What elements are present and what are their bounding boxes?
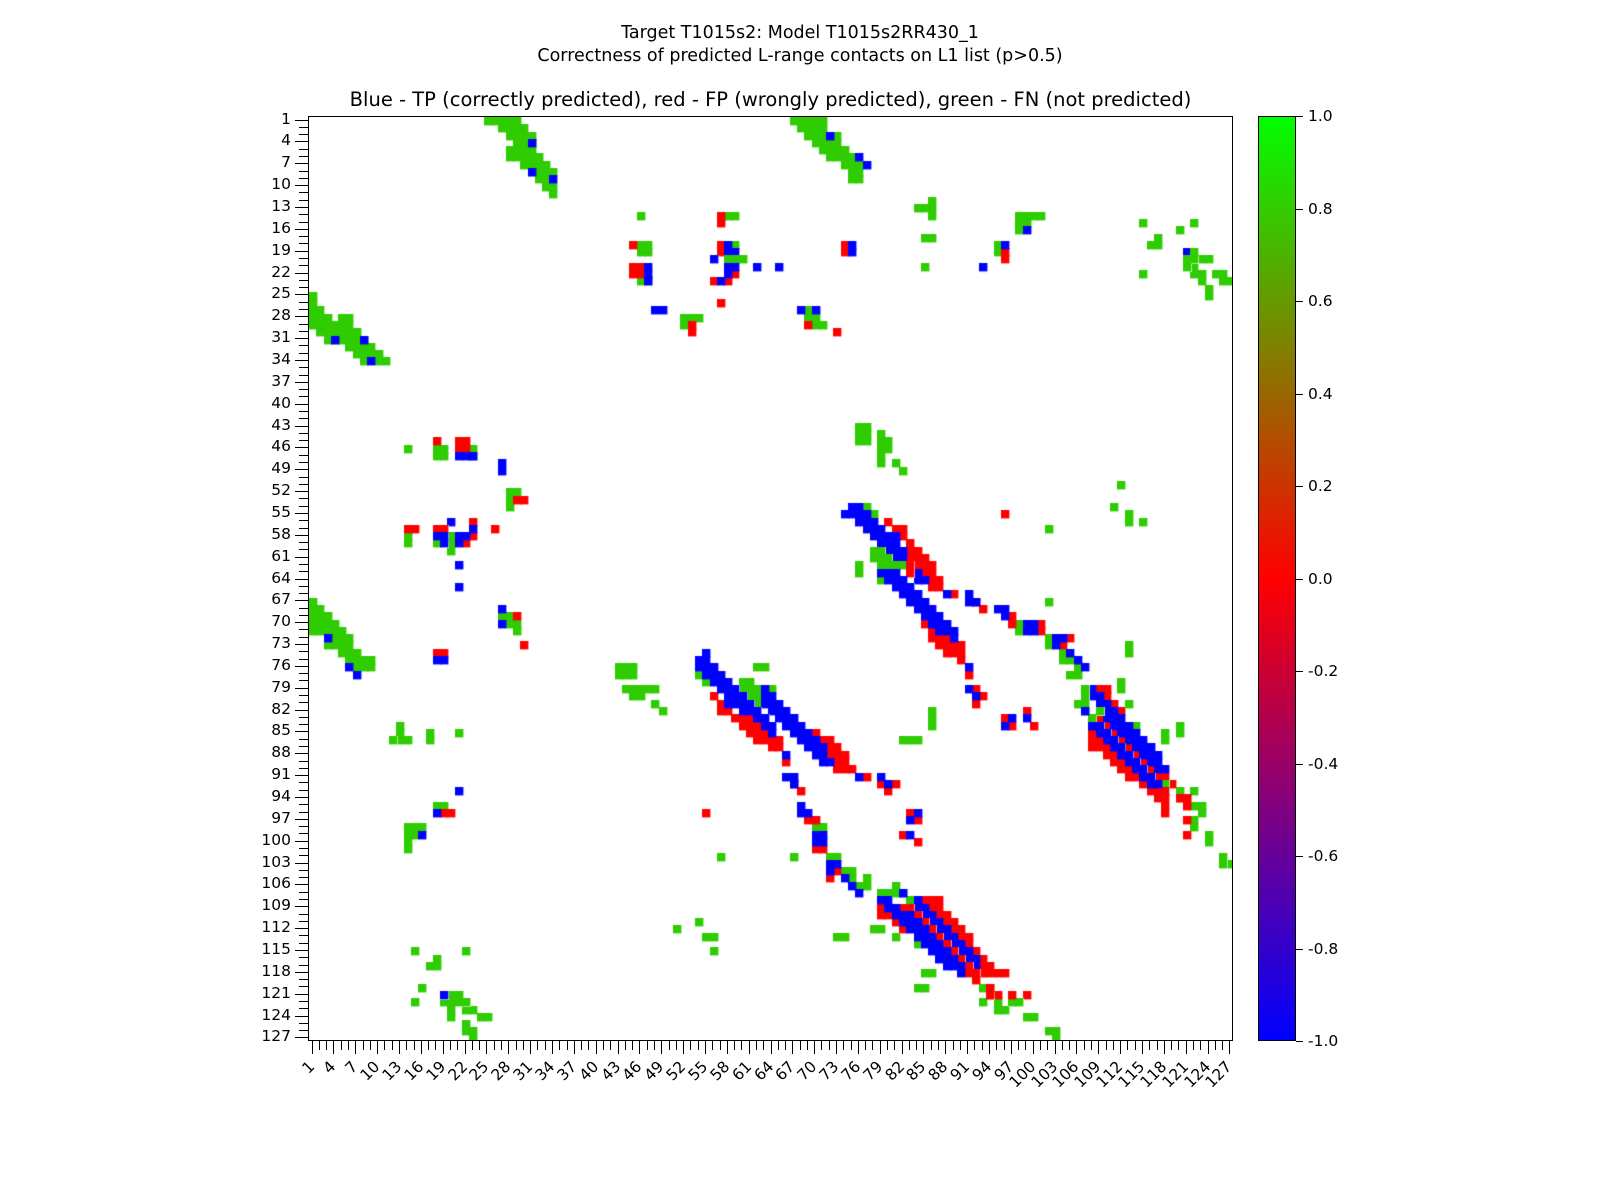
x-tick-minor xyxy=(1135,1041,1136,1050)
colorbar-tick xyxy=(1296,1041,1303,1042)
y-tick-minor xyxy=(299,761,308,762)
y-tick-minor xyxy=(299,506,308,507)
colorbar-tick xyxy=(1296,671,1303,672)
y-tick-minor xyxy=(299,790,308,791)
colorbar-tick xyxy=(1296,301,1303,302)
x-tick-major xyxy=(858,1041,859,1054)
colorbar-tick xyxy=(1296,764,1303,765)
x-tick-major xyxy=(399,1041,400,1054)
x-tick-minor xyxy=(348,1041,349,1050)
colorbar-tick-label: 0.2 xyxy=(1308,477,1333,495)
x-tick-major xyxy=(596,1041,597,1054)
x-tick-minor xyxy=(450,1041,451,1050)
x-tick-minor xyxy=(647,1041,648,1050)
colorbar-tick xyxy=(1296,949,1303,950)
y-tick-minor xyxy=(299,921,308,922)
y-tick-minor xyxy=(299,702,308,703)
y-tick-minor xyxy=(299,943,308,944)
x-tick-minor xyxy=(1178,1041,1179,1050)
y-tick-major xyxy=(295,469,308,470)
x-tick-major xyxy=(639,1041,640,1054)
x-tick-minor xyxy=(1091,1041,1092,1050)
colorbar-tick-label: 0.6 xyxy=(1308,292,1333,310)
y-tick-label: 28 xyxy=(271,306,291,324)
x-tick-minor xyxy=(916,1041,917,1050)
x-tick-minor xyxy=(756,1041,757,1050)
y-tick-major xyxy=(295,426,308,427)
y-tick-minor xyxy=(299,214,308,215)
y-tick-minor xyxy=(299,134,308,135)
y-tick-minor xyxy=(299,287,308,288)
x-tick-minor xyxy=(843,1041,844,1050)
y-tick-label: 34 xyxy=(271,350,291,368)
y-tick-label: 64 xyxy=(271,569,291,587)
y-tick-major xyxy=(295,120,308,121)
y-tick-minor xyxy=(299,586,308,587)
y-tick-label: 115 xyxy=(261,940,291,958)
y-tick-major xyxy=(295,884,308,885)
x-tick-minor xyxy=(974,1041,975,1050)
x-tick-minor xyxy=(865,1041,866,1050)
y-tick-minor xyxy=(299,265,308,266)
x-tick-minor xyxy=(537,1041,538,1050)
y-tick-minor xyxy=(299,396,308,397)
x-tick-minor xyxy=(632,1041,633,1050)
x-tick-major xyxy=(792,1041,793,1054)
y-tick-minor xyxy=(299,309,308,310)
y-tick-major xyxy=(295,841,308,842)
x-tick-major xyxy=(923,1041,924,1054)
x-tick-minor xyxy=(1062,1041,1063,1050)
x-tick-minor xyxy=(1047,1041,1048,1050)
y-tick-label: 10 xyxy=(271,175,291,193)
y-tick-minor xyxy=(299,593,308,594)
x-tick-minor xyxy=(785,1041,786,1050)
colorbar-gradient-upper xyxy=(1259,117,1295,579)
y-tick-minor xyxy=(299,455,308,456)
y-tick-minor xyxy=(299,637,308,638)
y-tick-minor xyxy=(299,877,308,878)
y-tick-major xyxy=(295,906,308,907)
y-tick-minor xyxy=(299,236,308,237)
x-tick-minor xyxy=(931,1041,932,1050)
x-tick-minor xyxy=(654,1041,655,1050)
colorbar-tick-label: -0.8 xyxy=(1308,940,1338,958)
x-tick-major xyxy=(1033,1041,1034,1054)
x-tick-minor xyxy=(698,1041,699,1050)
y-tick-minor xyxy=(299,782,308,783)
y-tick-label: 109 xyxy=(261,896,291,914)
x-tick-minor xyxy=(887,1041,888,1050)
y-tick-minor xyxy=(299,258,308,259)
y-tick-label: 46 xyxy=(271,437,291,455)
x-tick-minor xyxy=(1018,1041,1019,1050)
y-tick-minor xyxy=(299,498,308,499)
y-tick-major xyxy=(295,207,308,208)
y-tick-minor xyxy=(299,171,308,172)
y-tick-major xyxy=(295,731,308,732)
colorbar-tick xyxy=(1296,394,1303,395)
y-tick-label: 121 xyxy=(261,984,291,1002)
y-tick-minor xyxy=(299,659,308,660)
y-tick-label: 88 xyxy=(271,743,291,761)
x-tick-major xyxy=(377,1041,378,1054)
y-tick-minor xyxy=(299,375,308,376)
y-tick-minor xyxy=(299,484,308,485)
y-tick-major xyxy=(295,447,308,448)
y-tick-minor xyxy=(299,302,308,303)
x-tick-minor xyxy=(1113,1041,1114,1050)
x-tick-major xyxy=(443,1041,444,1054)
y-tick-minor xyxy=(299,768,308,769)
y-tick-label: 79 xyxy=(271,678,291,696)
y-tick-label: 73 xyxy=(271,634,291,652)
x-tick-major xyxy=(1142,1041,1143,1054)
colorbar-tick xyxy=(1296,579,1303,580)
y-tick-minor xyxy=(299,156,308,157)
y-tick-minor xyxy=(299,717,308,718)
y-tick-major xyxy=(295,294,308,295)
x-tick-minor xyxy=(1149,1041,1150,1050)
x-tick-major xyxy=(1164,1041,1165,1054)
y-tick-label: 61 xyxy=(271,547,291,565)
y-tick-label: 1 xyxy=(281,110,291,128)
x-tick-minor xyxy=(909,1041,910,1050)
y-tick-minor xyxy=(299,222,308,223)
x-tick-minor xyxy=(392,1041,393,1050)
x-tick-minor xyxy=(588,1041,589,1050)
y-tick-major xyxy=(295,513,308,514)
y-tick-label: 103 xyxy=(261,853,291,871)
x-tick-minor xyxy=(428,1041,429,1050)
x-tick-minor xyxy=(1193,1041,1194,1050)
x-tick-minor xyxy=(516,1041,517,1050)
y-tick-minor xyxy=(299,673,308,674)
x-tick-major xyxy=(836,1041,837,1054)
x-tick-major xyxy=(727,1041,728,1054)
y-tick-label: 25 xyxy=(271,284,291,302)
y-tick-major xyxy=(295,163,308,164)
y-tick-major xyxy=(295,338,308,339)
y-tick-minor xyxy=(299,528,308,529)
x-tick-minor xyxy=(545,1041,546,1050)
y-tick-minor xyxy=(299,680,308,681)
y-tick-label: 52 xyxy=(271,481,291,499)
colorbar-tick xyxy=(1296,486,1303,487)
x-tick-major xyxy=(312,1041,313,1054)
y-tick-minor xyxy=(299,571,308,572)
y-tick-label: 16 xyxy=(271,219,291,237)
x-tick-major xyxy=(683,1041,684,1054)
x-tick-major xyxy=(814,1041,815,1054)
y-tick-minor xyxy=(299,608,308,609)
x-tick-major xyxy=(333,1041,334,1054)
x-tick-major xyxy=(355,1041,356,1054)
y-tick-major xyxy=(295,229,308,230)
x-tick-minor xyxy=(851,1041,852,1050)
x-tick-minor xyxy=(734,1041,735,1050)
x-tick-major xyxy=(486,1041,487,1054)
legend-description: Blue - TP (correctly predicted), red - F… xyxy=(308,88,1233,111)
y-tick-minor xyxy=(299,418,308,419)
y-tick-minor xyxy=(299,440,308,441)
y-tick-minor xyxy=(299,433,308,434)
x-tick-minor xyxy=(326,1041,327,1050)
colorbar-gradient-lower xyxy=(1259,579,1295,1041)
x-tick-minor xyxy=(741,1041,742,1050)
x-tick-minor xyxy=(778,1041,779,1050)
x-tick-major xyxy=(1055,1041,1056,1054)
y-tick-minor xyxy=(299,899,308,900)
colorbar-tick-label: 1.0 xyxy=(1308,107,1333,125)
contact-map-plot xyxy=(308,116,1233,1041)
x-tick-major xyxy=(618,1041,619,1054)
x-tick-major xyxy=(1120,1041,1121,1054)
figure-title: Target T1015s2: Model T1015s2RR430_1 Cor… xyxy=(0,22,1600,68)
y-tick-major xyxy=(295,775,308,776)
x-tick-minor xyxy=(982,1041,983,1050)
colorbar-tick-label: -0.2 xyxy=(1308,662,1338,680)
y-tick-major xyxy=(295,185,308,186)
y-tick-major xyxy=(295,710,308,711)
x-tick-major xyxy=(1186,1041,1187,1054)
x-tick-minor xyxy=(690,1041,691,1050)
x-tick-minor xyxy=(567,1041,568,1050)
x-tick-minor xyxy=(872,1041,873,1050)
y-tick-major xyxy=(295,579,308,580)
x-tick-minor xyxy=(829,1041,830,1050)
y-tick-minor xyxy=(299,127,308,128)
y-tick-major xyxy=(295,644,308,645)
y-tick-minor xyxy=(299,870,308,871)
y-tick-major xyxy=(295,1037,308,1038)
y-tick-label: 58 xyxy=(271,525,291,543)
y-tick-major xyxy=(295,491,308,492)
x-tick-minor xyxy=(457,1041,458,1050)
x-tick-minor xyxy=(581,1041,582,1050)
x-tick-major xyxy=(421,1041,422,1054)
y-tick-minor xyxy=(299,914,308,915)
y-tick-label: 91 xyxy=(271,765,291,783)
y-tick-minor xyxy=(299,739,308,740)
x-tick-major xyxy=(989,1041,990,1054)
y-tick-label: 97 xyxy=(271,809,291,827)
x-tick-major xyxy=(749,1041,750,1054)
y-tick-minor xyxy=(299,629,308,630)
y-tick-minor xyxy=(299,892,308,893)
y-tick-minor xyxy=(299,804,308,805)
y-tick-minor xyxy=(299,957,308,958)
y-tick-label: 94 xyxy=(271,787,291,805)
x-tick-minor xyxy=(1222,1041,1223,1050)
x-tick-minor xyxy=(1157,1041,1158,1050)
y-tick-minor xyxy=(299,549,308,550)
y-tick-minor xyxy=(299,389,308,390)
y-tick-label: 118 xyxy=(261,962,291,980)
x-tick-major xyxy=(880,1041,881,1054)
x-tick-major xyxy=(552,1041,553,1054)
x-tick-major xyxy=(661,1041,662,1054)
contact-map-canvas xyxy=(309,117,1233,1041)
x-tick-major xyxy=(771,1041,772,1054)
x-tick-major xyxy=(1076,1041,1077,1054)
y-tick-major xyxy=(295,688,308,689)
x-tick-minor xyxy=(763,1041,764,1050)
y-tick-major xyxy=(295,535,308,536)
x-tick-minor xyxy=(1215,1041,1216,1050)
y-tick-major xyxy=(295,797,308,798)
y-tick-major xyxy=(295,382,308,383)
y-tick-label: 40 xyxy=(271,394,291,412)
y-tick-minor xyxy=(299,477,308,478)
x-tick-major xyxy=(1098,1041,1099,1054)
x-tick-minor xyxy=(1025,1041,1026,1050)
x-tick-major xyxy=(1208,1041,1209,1054)
x-tick-minor xyxy=(1084,1041,1085,1050)
x-tick-minor xyxy=(559,1041,560,1050)
y-tick-major xyxy=(295,928,308,929)
y-tick-minor xyxy=(299,324,308,325)
y-tick-label: 85 xyxy=(271,721,291,739)
y-tick-minor xyxy=(299,280,308,281)
x-tick-minor xyxy=(625,1041,626,1050)
x-tick-major xyxy=(945,1041,946,1054)
y-tick-label: 19 xyxy=(271,241,291,259)
colorbar-tick-label: -0.6 xyxy=(1308,847,1338,865)
y-tick-label: 4 xyxy=(281,131,291,149)
y-tick-label: 37 xyxy=(271,372,291,390)
x-tick-minor xyxy=(720,1041,721,1050)
y-tick-major xyxy=(295,316,308,317)
x-tick-minor xyxy=(1069,1041,1070,1050)
x-tick-minor xyxy=(1106,1041,1107,1050)
x-tick-major xyxy=(705,1041,706,1054)
colorbar-tick-label: 0.0 xyxy=(1308,570,1333,588)
x-tick-minor xyxy=(610,1041,611,1050)
y-tick-label: 127 xyxy=(261,1027,291,1045)
x-tick-minor xyxy=(501,1041,502,1050)
colorbar-tick xyxy=(1296,209,1303,210)
y-tick-minor xyxy=(299,651,308,652)
y-tick-minor xyxy=(299,462,308,463)
x-tick-major xyxy=(1229,1041,1230,1054)
x-tick-major xyxy=(574,1041,575,1054)
x-tick-minor xyxy=(1040,1041,1041,1050)
x-tick-minor xyxy=(363,1041,364,1050)
y-tick-major xyxy=(295,141,308,142)
colorbar-tick-label: 0.8 xyxy=(1308,200,1333,218)
x-tick-minor xyxy=(996,1041,997,1050)
x-tick-minor xyxy=(960,1041,961,1050)
y-tick-minor xyxy=(299,520,308,521)
y-tick-major xyxy=(295,622,308,623)
y-tick-minor xyxy=(299,833,308,834)
y-tick-minor xyxy=(299,1001,308,1002)
y-tick-major xyxy=(295,972,308,973)
colorbar xyxy=(1258,116,1296,1041)
y-tick-label: 13 xyxy=(271,197,291,215)
y-tick-minor xyxy=(299,724,308,725)
y-tick-label: 106 xyxy=(261,874,291,892)
x-tick-major xyxy=(465,1041,466,1054)
x-tick-minor xyxy=(800,1041,801,1050)
y-tick-label: 49 xyxy=(271,459,291,477)
y-tick-minor xyxy=(299,178,308,179)
y-tick-label: 82 xyxy=(271,700,291,718)
y-tick-minor xyxy=(299,200,308,201)
title-line-2: Correctness of predicted L-range contact… xyxy=(0,45,1600,68)
x-tick-minor xyxy=(953,1041,954,1050)
y-tick-major xyxy=(295,1016,308,1017)
y-tick-label: 112 xyxy=(261,918,291,936)
y-tick-minor xyxy=(299,695,308,696)
y-tick-label: 43 xyxy=(271,416,291,434)
y-tick-minor xyxy=(299,826,308,827)
y-tick-minor xyxy=(299,935,308,936)
x-tick-minor xyxy=(1200,1041,1201,1050)
y-tick-label: 76 xyxy=(271,656,291,674)
y-tick-minor xyxy=(299,192,308,193)
y-tick-minor xyxy=(299,331,308,332)
y-tick-major xyxy=(295,557,308,558)
x-tick-minor xyxy=(807,1041,808,1050)
y-tick-label: 124 xyxy=(261,1006,291,1024)
x-tick-minor xyxy=(435,1041,436,1050)
y-tick-minor xyxy=(299,848,308,849)
colorbar-tick xyxy=(1296,856,1303,857)
y-tick-minor xyxy=(299,746,308,747)
y-tick-minor xyxy=(299,965,308,966)
y-tick-label: 7 xyxy=(281,153,291,171)
x-tick-minor xyxy=(894,1041,895,1050)
x-tick-major xyxy=(508,1041,509,1054)
y-tick-minor xyxy=(299,149,308,150)
x-tick-minor xyxy=(821,1041,822,1050)
y-tick-minor xyxy=(299,367,308,368)
y-tick-major xyxy=(295,273,308,274)
x-tick-minor xyxy=(472,1041,473,1050)
y-tick-minor xyxy=(299,812,308,813)
y-tick-minor xyxy=(299,411,308,412)
x-tick-major xyxy=(967,1041,968,1054)
y-tick-minor xyxy=(299,855,308,856)
y-tick-minor xyxy=(299,564,308,565)
y-tick-minor xyxy=(299,1023,308,1024)
y-tick-label: 100 xyxy=(261,831,291,849)
y-tick-minor xyxy=(299,353,308,354)
x-tick-minor xyxy=(1127,1041,1128,1050)
y-tick-minor xyxy=(299,615,308,616)
y-tick-label: 70 xyxy=(271,612,291,630)
x-tick-minor xyxy=(384,1041,385,1050)
y-tick-minor xyxy=(299,986,308,987)
y-tick-minor xyxy=(299,542,308,543)
colorbar-tick-label: -1.0 xyxy=(1308,1032,1338,1050)
x-tick-minor xyxy=(603,1041,604,1050)
x-tick-minor xyxy=(523,1041,524,1050)
y-tick-minor xyxy=(299,345,308,346)
colorbar-tick-label: 0.4 xyxy=(1308,385,1333,403)
y-tick-minor xyxy=(299,243,308,244)
y-tick-major xyxy=(295,753,308,754)
x-tick-minor xyxy=(479,1041,480,1050)
colorbar-tick-label: -0.4 xyxy=(1308,755,1338,773)
x-tick-minor xyxy=(319,1041,320,1050)
y-tick-major xyxy=(295,251,308,252)
y-tick-minor xyxy=(299,1030,308,1031)
x-tick-minor xyxy=(676,1041,677,1050)
y-tick-label: 22 xyxy=(271,263,291,281)
